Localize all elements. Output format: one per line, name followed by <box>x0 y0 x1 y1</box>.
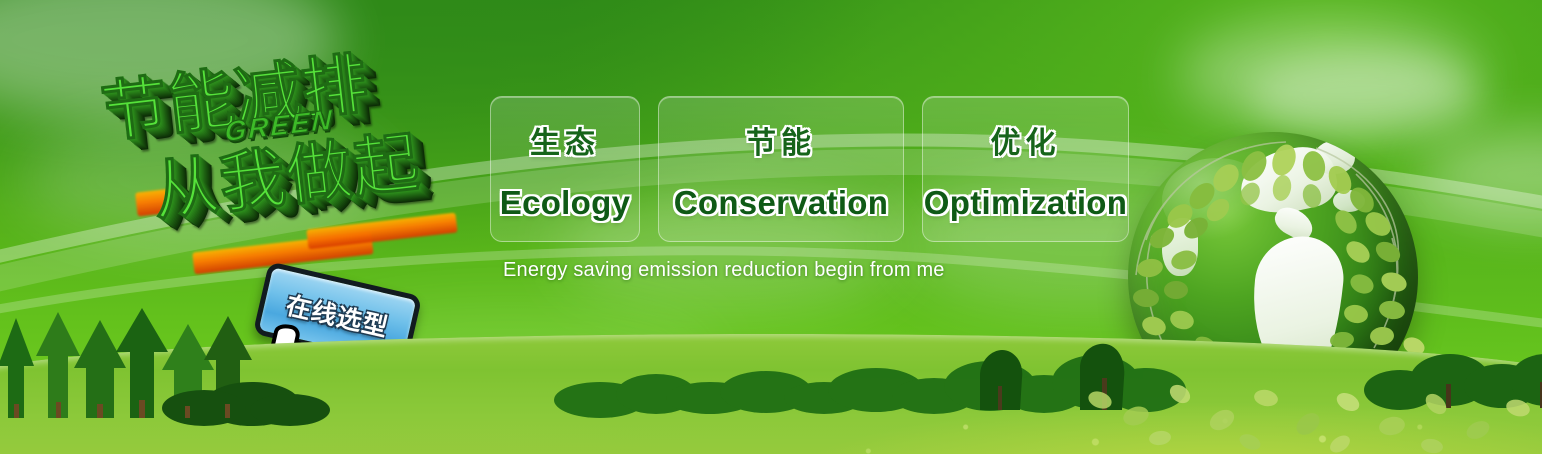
feature-card-list: 生态 Ecology 节能 Conservation 优化 Optimizati… <box>490 96 1129 242</box>
globe-specular-highlight <box>1162 158 1272 242</box>
feature-card-ecology[interactable]: 生态 Ecology <box>490 96 640 242</box>
feature-card-ecology-en: Ecology <box>500 184 630 222</box>
feature-card-optimization-cn: 优化 <box>991 118 1061 162</box>
feature-card-optimization-en: Optimization <box>924 184 1127 222</box>
flame-accent-3 <box>306 213 457 250</box>
grass-field <box>0 334 1542 454</box>
continent-greenland <box>1313 140 1355 174</box>
online-selection-button-label: 在线选型 <box>283 286 392 344</box>
feature-card-conservation-cn: 节能 <box>746 118 816 162</box>
feature-card-conservation-en: Conservation <box>674 184 888 222</box>
headline-3d-text: 节能减排 GREEN 从我做起 <box>85 12 510 301</box>
grass-texture <box>0 334 1542 454</box>
feature-card-ecology-cn: 生态 <box>530 118 600 162</box>
feature-card-optimization[interactable]: 优化 Optimization <box>922 96 1129 242</box>
tagline-text: Energy saving emission reduction begin f… <box>503 259 945 282</box>
continent-arctic-patch <box>1333 190 1365 212</box>
green-energy-banner: 节能减排 GREEN 从我做起 在线选型 生态 Ecology 节能 Conse… <box>0 0 1542 454</box>
feature-card-conservation[interactable]: 节能 Conservation <box>658 96 904 242</box>
cloud-right-bright-icon <box>1250 55 1480 135</box>
